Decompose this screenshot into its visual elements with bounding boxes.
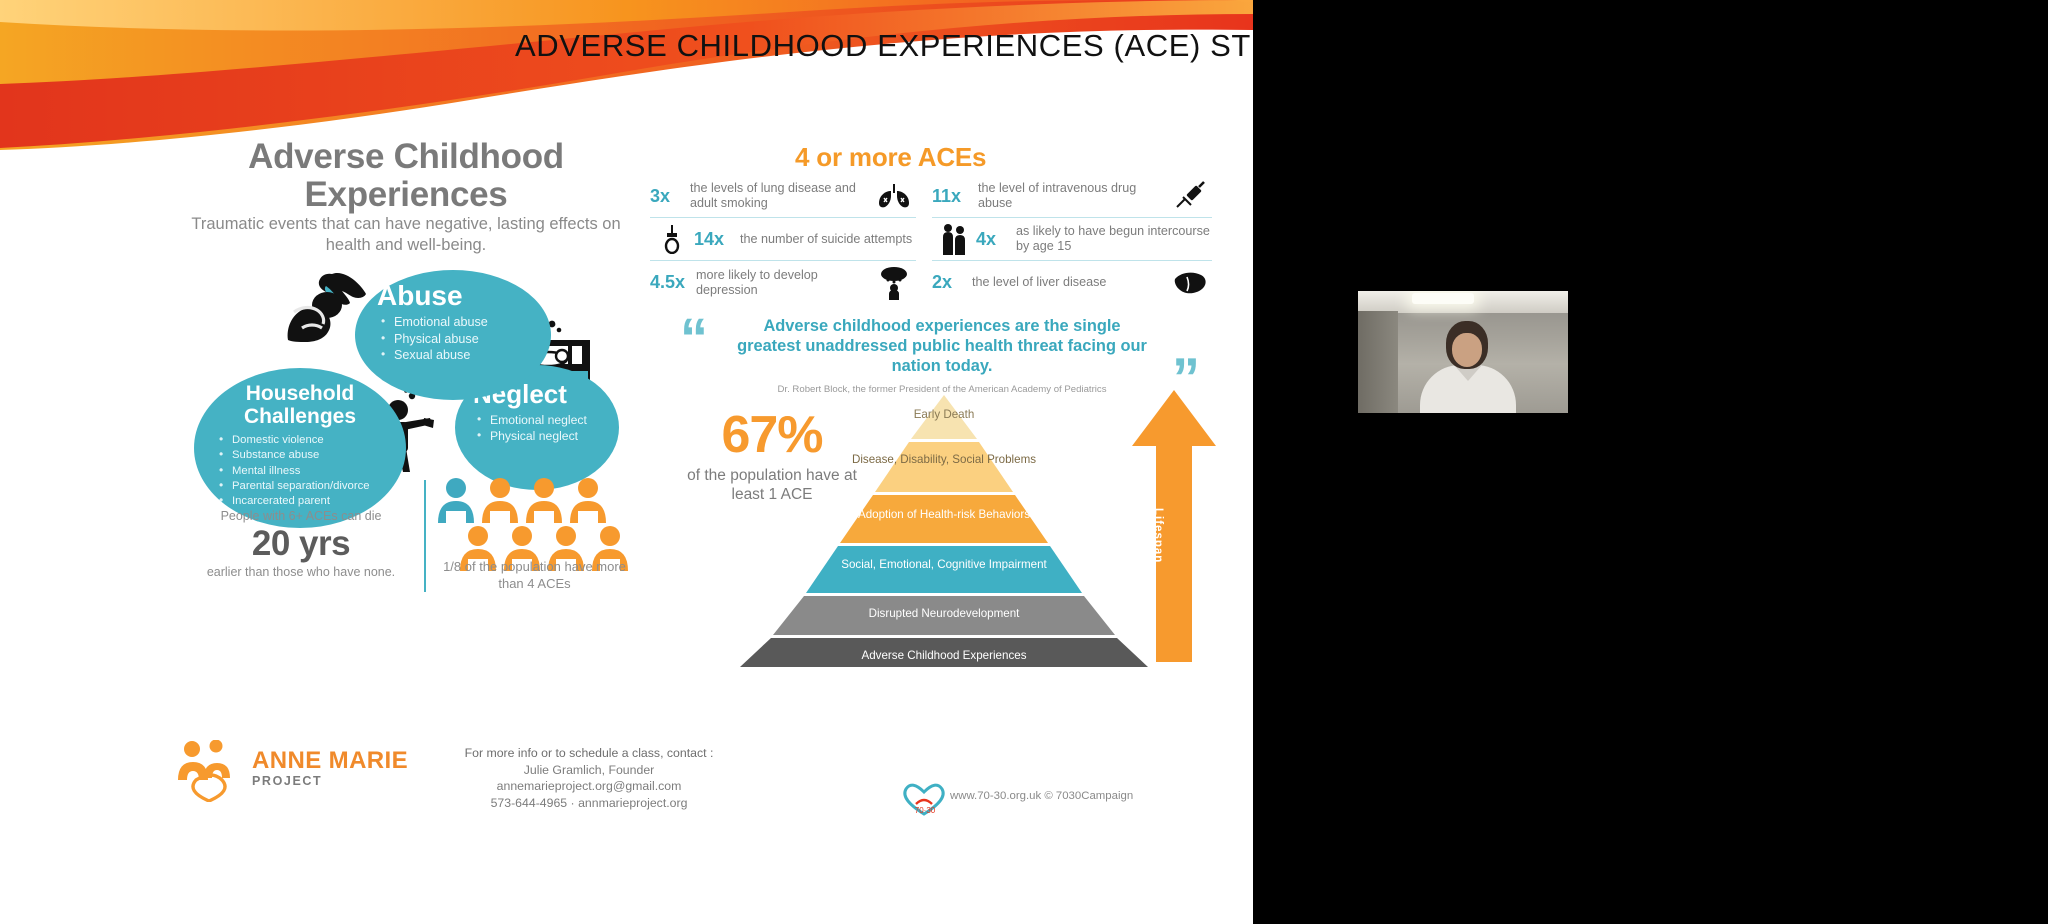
bubble-title: Household Challenges [194,368,406,431]
stat-row: 4.5x more likely to develop depression [650,261,916,304]
list-item: Emotional abuse [381,314,551,331]
bubble-abuse: Abuse Emotional abuse Physical abuse Sex… [355,270,551,400]
four-or-more-aces-title: 4 or more ACEs [795,142,1065,173]
ceiling-light [1412,293,1474,304]
people-pictogram [436,475,631,571]
hand-and-child-icon [272,272,368,344]
org-logo-text: ANNE MARIE PROJECT [252,748,408,788]
stat-row: 4x as likely to have begun intercourse b… [932,218,1212,261]
stat-description: the number of suicide attempts [740,232,916,247]
pyramid-level-label: Early Death [728,408,1160,422]
noose-icon [650,224,694,254]
people-stat-caption: 1/8 of the population have more than 4 A… [432,558,637,592]
list-item: Sexual abuse [381,347,551,364]
org-subname: PROJECT [252,774,408,788]
pyramid-level-label: Disrupted Neurodevelopment [728,607,1160,621]
list-item: Domestic violence [219,433,406,448]
stat-description: as likely to have begun intercourse by a… [1016,224,1212,254]
contact-line[interactable]: annemarieproject.org@gmail.com [434,778,744,795]
pyramid-level-label: Disease, Disability, Social Problems [728,453,1160,467]
stat-multiplier: 14x [694,229,740,250]
stat-description: more likely to develop depression [696,268,872,298]
contact-block: For more info or to schedule a class, co… [434,745,744,811]
screen-share-view: ADVERSE CHILDHOOD EXPERIENCES (ACE) STUD… [0,0,2048,924]
stat-multiplier: 11x [932,186,978,207]
syringe-icon [1168,181,1212,211]
quote-open-mark: “ [680,318,708,358]
participant-head [1446,321,1488,369]
list-item: Substance abuse [219,448,406,463]
bubble-household-challenges: Household Challenges Domestic violence S… [194,368,406,528]
rain-cloud-person-icon [872,266,916,300]
vertical-divider [424,480,426,592]
pyramid-level-label: Adverse Childhood Experiences [728,649,1160,663]
heart-7030-logo-icon: 70·30 [898,780,952,818]
lifespan-stat-bottom: earlier than those who have none. [186,564,416,580]
liver-icon [1168,271,1212,295]
lifespan-arrow-label: Lifespan [1152,508,1164,563]
contact-heading: For more info or to schedule a class, co… [434,745,744,762]
pyramid-shape [728,395,1160,667]
stat-multiplier: 4.5x [650,272,696,293]
lifespan-stat-value: 20 yrs [186,524,416,564]
stat-multiplier: 3x [650,186,690,207]
ace-pyramid: Early Death Disease, Disability, Social … [728,395,1160,667]
stat-row: 11x the level of intravenous drug abuse [932,175,1212,218]
pyramid-level-label: Social, Emotional, Cognitive Impairment [728,558,1160,572]
up-arrow-icon [1128,390,1220,662]
stat-description: the level of intravenous drug abuse [978,181,1168,211]
ace-infographic: Adverse Childhood Experiences Traumatic … [0,120,1253,700]
video-door [1358,311,1398,413]
pyramid-level-label: Adoption of Health-risk Behaviors [728,508,1160,522]
bubble-title: Abuse [355,270,551,314]
couple-icon [932,223,976,255]
bubble-list: Emotional abuse Physical abuse Sexual ab… [355,314,551,364]
stat-row: 3x the levels of lung disease and adult … [650,175,916,218]
lifespan-stat-top: People with 6+ ACEs can die [186,508,416,524]
stat-multiplier: 4x [976,229,1016,250]
stat-column-right: 11x the level of intravenous drug abuse … [932,175,1212,304]
stat-description: the levels of lung disease and adult smo… [690,181,872,211]
presentation-slide: ADVERSE CHILDHOOD EXPERIENCES (ACE) STUD… [0,0,1253,924]
list-item: Emotional neglect [477,412,619,428]
svg-text:70·30: 70·30 [915,806,936,815]
contact-line: Julie Gramlich, Founder [434,762,744,779]
list-item: Parental separation/divorce [219,479,406,494]
participant-video-tile[interactable] [1358,291,1568,413]
bubble-list: Domestic violence Substance abuse Mental… [194,431,406,509]
list-item: Physical neglect [477,428,619,444]
contact-line[interactable]: 573-644-4965 · annmarieproject.org [434,795,744,812]
lungs-icon [872,183,916,209]
stat-multiplier: 2x [932,272,972,293]
stat-row: 14x the number of suicide attempts [650,218,916,261]
stat-description: the level of liver disease [972,275,1168,290]
stat-column-left: 3x the levels of lung disease and adult … [650,175,916,304]
bubble-list: Emotional neglect Physical neglect [455,412,619,444]
anne-marie-project-logo-icon [176,740,252,802]
stat-row: 2x the level of liver disease [932,261,1212,304]
campaign-credit: www.70-30.org.uk © 7030Campaign [950,790,1133,802]
org-name: ANNE MARIE [252,748,408,774]
quote-text: Adverse childhood experiences are the si… [736,316,1148,376]
lifespan-stat: People with 6+ ACEs can die 20 yrs earli… [186,508,416,580]
list-item: Physical abuse [381,331,551,348]
participant-face [1452,333,1482,367]
infographic-headline: Adverse Childhood Experiences [176,138,636,214]
list-item: Mental illness [219,464,406,479]
infographic-subhead: Traumatic events that can have negative,… [186,214,626,256]
page-title: ADVERSE CHILDHOOD EXPERIENCES (ACE) STUD… [515,28,1245,64]
quote-attribution: Dr. Robert Block, the former President o… [716,384,1168,395]
lifespan-arrow: Lifespan [1128,390,1220,662]
